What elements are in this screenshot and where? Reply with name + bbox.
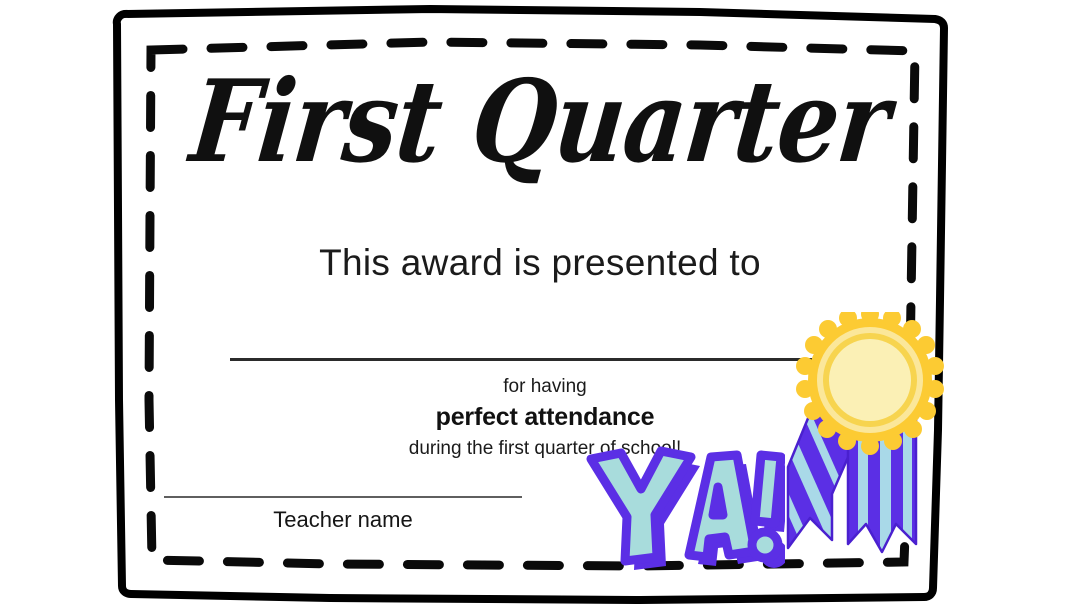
teacher-name-label: Teacher name xyxy=(164,507,522,533)
certificate-content: First Quarter This award is presented to… xyxy=(150,20,930,588)
certificate: First Quarter This award is presented to… xyxy=(0,0,1080,608)
award-rosette-icon xyxy=(770,312,960,562)
certificate-subtitle: This award is presented to xyxy=(150,242,930,284)
recipient-name-line[interactable] xyxy=(230,358,816,361)
yay-letters xyxy=(591,451,781,561)
teacher-signature-line[interactable] xyxy=(164,496,522,498)
page-title: First Quarter xyxy=(144,63,937,182)
yay-sticker xyxy=(585,445,785,570)
for-having-label: for having xyxy=(330,376,760,398)
award-reason: perfect attendance xyxy=(330,403,760,432)
